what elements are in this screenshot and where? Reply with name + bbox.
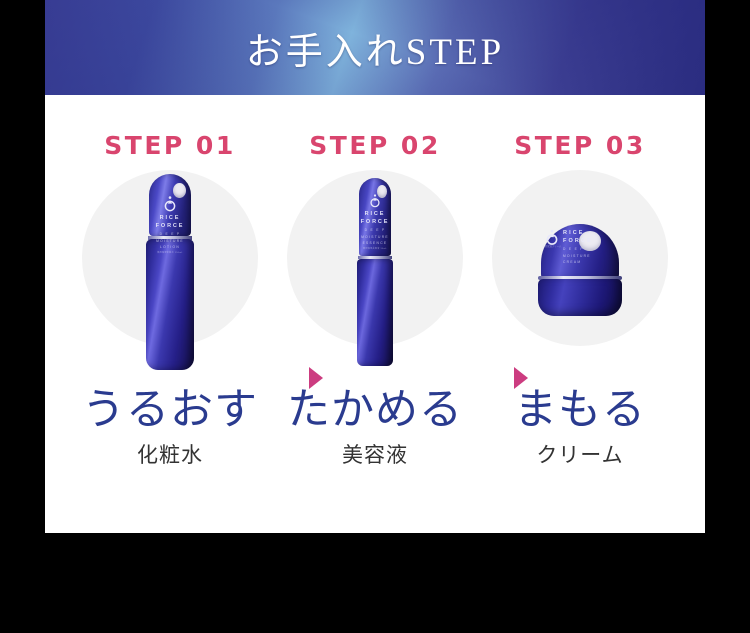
step-caption-main-1: うるおす <box>70 384 270 436</box>
step-label-1: STEP 01 <box>70 131 270 160</box>
page-title: お手入れSTEP <box>45 21 705 75</box>
lotion-bottle-body <box>146 239 194 370</box>
essence-bottle-body <box>357 259 393 366</box>
essence-bottle: RICE FORCE D E E P MOISTURE ESSENCE 薬用保湿… <box>354 178 396 366</box>
step-caption-main-2: たかめる <box>275 384 475 436</box>
arrow-right-icon-1 <box>309 367 323 389</box>
cream-fine-print: 薬用保湿クリーム <box>541 246 563 249</box>
step-caption-sub-3: クリーム <box>480 442 680 468</box>
essence-cap-ring-icon <box>377 185 387 198</box>
step-thumbnail-1: RICE FORCE D E E P MOISTURE LOTION 薬用保湿化… <box>70 166 270 366</box>
rice-force-drop-icon <box>545 229 559 246</box>
step-caption-main-3: まもる <box>480 384 680 436</box>
product-image-lotion: RICE FORCE D E E P MOISTURE LOTION 薬用保湿化… <box>70 166 270 366</box>
card-header-banner: お手入れSTEP <box>45 0 705 95</box>
arrow-right-icon-2 <box>514 367 528 389</box>
step-thumbnail-2: RICE FORCE D E E P MOISTURE ESSENCE 薬用保湿… <box>275 166 475 366</box>
step-item-1[interactable]: STEP 01 <box>70 95 270 468</box>
product-image-cream: RICE FORCE D E E P MOISTURE CREAM 薬用保湿クリ… <box>480 166 680 366</box>
page-root: お手入れSTEP STEP 01 <box>0 0 750 633</box>
lotion-cap-ring-icon <box>173 183 186 198</box>
step-label-2: STEP 02 <box>275 131 475 160</box>
step-caption-sub-1: 化粧水 <box>70 442 270 468</box>
step-label-3: STEP 03 <box>480 131 680 160</box>
cream-jar: RICE FORCE D E E P MOISTURE CREAM 薬用保湿クリ… <box>537 224 623 316</box>
product-image-essence: RICE FORCE D E E P MOISTURE ESSENCE 薬用保湿… <box>275 166 475 366</box>
step-item-2[interactable]: STEP 02 <box>275 95 475 468</box>
lotion-bottle-cap <box>149 174 191 236</box>
step-item-3[interactable]: STEP 03 <box>480 95 680 468</box>
steps-container: STEP 01 <box>45 95 705 533</box>
lotion-bottle: RICE FORCE D E E P MOISTURE LOTION 薬用保湿化… <box>142 174 198 370</box>
step-caption-sub-2: 美容液 <box>275 442 475 468</box>
step-thumbnail-3: RICE FORCE D E E P MOISTURE CREAM 薬用保湿クリ… <box>480 166 680 366</box>
care-step-card: お手入れSTEP STEP 01 <box>45 0 705 533</box>
cream-lid-ring-icon <box>579 231 601 251</box>
essence-bottle-cap <box>359 178 391 256</box>
cream-jar-base <box>538 279 622 316</box>
